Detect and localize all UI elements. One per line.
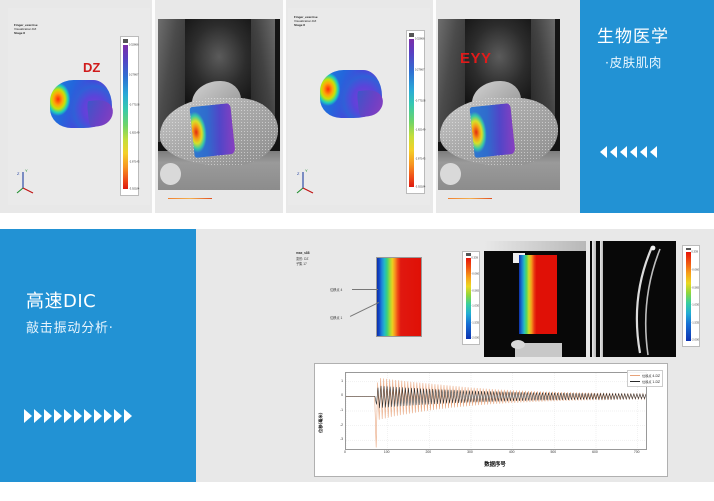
leader-line-0: [352, 289, 378, 290]
legend-label-1: 位移点 1-DZ: [642, 379, 660, 384]
cbar2-tick-5: -3.92184: [415, 185, 426, 188]
chevron-right-icon: [84, 409, 92, 423]
biomedical-panel[interactable]: 生物医学 ·皮肤肌肉: [580, 0, 714, 213]
chart-y-tick: -3: [333, 437, 343, 441]
chart-x-label: 数据序号: [484, 460, 506, 468]
dic-view-1[interactable]: Finger_exercise Visualization DZ Stage 8…: [8, 8, 150, 205]
chart-x-tick: 400: [509, 450, 515, 454]
cbar1-tick-4: -2.87143: [129, 160, 140, 163]
ruler-mark-1: [168, 198, 212, 199]
cbar1-tick-5: -3.92184: [129, 187, 140, 190]
legend-label-0: 位移点 4-DZ: [642, 373, 660, 378]
dz-overlay-label: DZ: [83, 60, 100, 75]
chart-legend: 位移点 4-DZ 位移点 1-DZ: [627, 370, 663, 387]
ccb-tick-4: -1.535: [471, 321, 479, 324]
chevron-right-icon: [34, 409, 42, 423]
chevron-left-group[interactable]: [600, 146, 657, 158]
chevron-right-icon: [64, 409, 72, 423]
ccb-tick-2: -0.565: [471, 289, 479, 292]
chevron-left-icon: [650, 146, 657, 158]
chart-x-tick: 200: [425, 450, 431, 454]
chevron-right-icon: [74, 409, 82, 423]
chevron-right-icon: [114, 409, 122, 423]
chevron-left-icon: [640, 146, 647, 158]
chevron-left-icon: [610, 146, 617, 158]
chevron-right-icon: [44, 409, 52, 423]
ecb-tick-0: 0.339: [691, 251, 698, 254]
hand-photo-2: EYY: [438, 19, 560, 190]
chart-y-label: 位移(毫米): [318, 393, 324, 433]
chevron-left-icon: [600, 146, 607, 158]
vibration-chart[interactable]: 0100200300400500600700 10-1-2-3 数据序号 位移(…: [314, 363, 668, 477]
eyy-overlay-label: EYY: [460, 50, 492, 67]
chart-x-tick: 100: [384, 450, 390, 454]
chart-y-tick: -1: [333, 408, 343, 412]
chart-series-svg: [346, 373, 646, 449]
cbar2-tick-0: 0.32866: [415, 38, 425, 41]
contour-header-line3: 子集 17: [296, 261, 307, 266]
dic-view-2-stage: Stage 8: [294, 24, 305, 28]
contour-colorbar: 0.339 -0.060 -0.565 -1.030 -1.535 -2.000: [462, 251, 480, 345]
legend-item-1: 位移点 1-DZ: [630, 379, 660, 384]
ccb-tick-1: -0.060: [471, 273, 479, 276]
ecb-tick-5: -2.000: [691, 339, 699, 342]
cbar1-tick-2: -0.77108: [129, 103, 140, 106]
cbar2-tick-1: 0.27867: [415, 68, 425, 71]
leader-line-1: [350, 302, 379, 316]
slide-root: Finger_exercise Visualization DZ Stage 8…: [0, 0, 714, 501]
ccb-tick-5: -2.000: [471, 337, 479, 340]
chart-y-tick: -2: [333, 423, 343, 427]
dic-view-2[interactable]: Finger_exercise Visualization DZ Stage 8…: [288, 8, 430, 205]
dic-view-1-stage: Stage 8: [14, 32, 25, 36]
legend-swatch-0: [630, 375, 640, 376]
top-dic-gallery: Finger_exercise Visualization DZ Stage 8…: [0, 0, 577, 213]
ecb-tick-1: -0.060: [691, 269, 699, 272]
contour-view[interactable]: max_s88 变形: DZ 子集 17 位移点 4 位移点 1 0.339 -…: [292, 243, 492, 351]
svg-text:Z: Z: [297, 171, 300, 176]
svg-text:Y: Y: [25, 168, 28, 173]
contour-annotation-1: 位移点 1: [330, 315, 342, 320]
legend-swatch-1: [630, 381, 640, 382]
cbar1-tick-3: -1.82149: [129, 132, 140, 135]
experiment-photo-right: [590, 241, 676, 357]
ecb-tick-2: -0.565: [691, 287, 699, 290]
legend-item-0: 位移点 4-DZ: [630, 373, 660, 378]
highspeed-title: 高速DIC: [26, 287, 96, 313]
cbar1-tick-1: 0.27867: [129, 73, 139, 76]
ruler-mark-2: [448, 198, 492, 199]
contour-specimen: [376, 257, 422, 337]
biomedical-subtitle: ·皮肤肌肉: [605, 52, 662, 71]
chevron-right-icon: [54, 409, 62, 423]
chart-x-tick: 300: [467, 450, 473, 454]
xyz-axis-icon: Y Z: [14, 166, 44, 196]
chevron-right-group[interactable]: [24, 409, 132, 423]
svg-text:Z: Z: [17, 171, 20, 176]
chevron-right-icon: [124, 409, 132, 423]
hand-photo-1: [158, 19, 280, 190]
chevron-left-icon: [630, 146, 637, 158]
experiment-photo-left: [484, 241, 586, 357]
chevron-right-icon: [104, 409, 112, 423]
biomedical-title: 生物医学: [597, 22, 669, 47]
chart-x-tick: 600: [592, 450, 598, 454]
top-section: Finger_exercise Visualization DZ Stage 8…: [0, 0, 714, 213]
highspeed-panel[interactable]: 高速DIC 敲击振动分析·: [0, 229, 196, 482]
contour-annotation-0: 位移点 4: [330, 287, 342, 292]
dic-view-1-colorbar: 0.32866 0.27867 -0.77108 -1.82149 -2.871…: [120, 36, 139, 196]
cbar2-tick-3: -1.82149: [415, 128, 426, 131]
xyz-axis-icon-2: Y Z: [294, 166, 324, 196]
cbar1-tick-0: 0.32866: [129, 43, 139, 46]
chart-plot-area: [345, 372, 647, 450]
chart-y-tick: 1: [333, 379, 343, 383]
chevron-right-icon: [94, 409, 102, 423]
highspeed-content: max_s88 变形: DZ 子集 17 位移点 4 位移点 1 0.339 -…: [196, 229, 714, 482]
dic-surface-mesh-2: [320, 70, 382, 118]
chart-y-tick: 0: [333, 393, 343, 397]
section-divider: [0, 213, 714, 229]
highspeed-subtitle: 敲击振动分析·: [26, 317, 114, 336]
cbar2-tick-2: -0.77108: [415, 99, 426, 102]
chevron-right-icon: [24, 409, 32, 423]
experiment-view[interactable]: 0.339 -0.060 -0.565 -1.030 -1.535 -2.000: [484, 241, 710, 357]
contour-header-line1: max_s88: [296, 251, 309, 255]
chart-x-tick: 500: [550, 450, 556, 454]
cbar2-tick-4: -2.87143: [415, 157, 426, 160]
experiment-colorbar: 0.339 -0.060 -0.565 -1.030 -1.535 -2.000: [682, 245, 700, 347]
chevron-left-icon: [620, 146, 627, 158]
chart-x-tick: 0: [344, 450, 346, 454]
chart-x-tick: 700: [634, 450, 640, 454]
dic-view-2-colorbar: 0.32866 0.27867 -0.77108 -1.82149 -2.871…: [406, 30, 425, 194]
ccb-tick-0: 0.339: [471, 256, 478, 259]
ecb-tick-4: -1.535: [691, 322, 699, 325]
bottom-section: 高速DIC 敲击振动分析· max_s88 变形: DZ: [0, 229, 714, 482]
ecb-tick-3: -1.030: [691, 304, 699, 307]
ccb-tick-3: -1.030: [471, 305, 479, 308]
dic-surface-mesh: [50, 80, 112, 128]
svg-text:Y: Y: [305, 168, 308, 173]
